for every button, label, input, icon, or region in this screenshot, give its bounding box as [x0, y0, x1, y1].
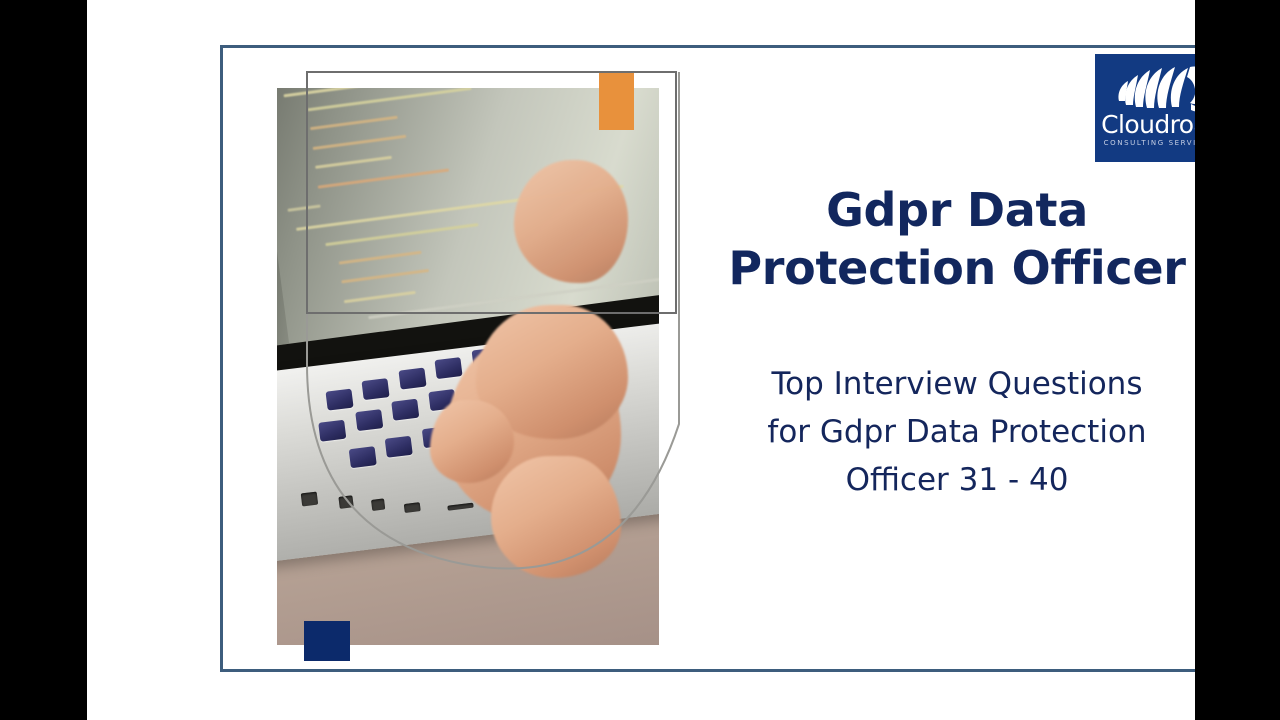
letterbox-left	[0, 0, 87, 720]
keyboard-key	[385, 436, 413, 458]
slide-canvas: Cloudroar CONSULTING SERVICES Gdpr Data …	[87, 0, 1195, 720]
laptop-port	[300, 491, 317, 506]
page-title-line-1: Gdpr Data	[707, 182, 1207, 240]
wrist	[491, 456, 621, 579]
keyboard-key	[391, 399, 419, 421]
laptop-port	[404, 501, 421, 512]
page-title-line-2: Protection Officer	[707, 240, 1207, 298]
page-subtitle: Top Interview Questions for Gdpr Data Pr…	[695, 360, 1219, 504]
keyboard-key	[362, 378, 390, 400]
laptop-card-slot	[447, 503, 473, 511]
letterbox-right	[1195, 0, 1280, 720]
page-subtitle-line-2: for Gdpr Data Protection	[695, 408, 1219, 456]
keyboard-key	[318, 419, 346, 441]
keyboard-key	[325, 388, 353, 410]
laptop-port	[371, 498, 385, 511]
page-subtitle-line-1: Top Interview Questions	[695, 360, 1219, 408]
keyboard-key	[398, 367, 426, 389]
navy-accent-block	[304, 621, 350, 661]
keyboard-key	[435, 357, 463, 379]
page-title: Gdpr Data Protection Officer	[707, 182, 1207, 297]
orange-accent-block	[599, 73, 634, 130]
page-subtitle-line-3: Officer 31 - 40	[695, 456, 1219, 504]
editor-gutter	[277, 88, 289, 348]
keyboard-key	[355, 409, 383, 431]
laptop-port	[338, 494, 353, 508]
keyboard-key	[349, 446, 377, 468]
video-stage: Cloudroar CONSULTING SERVICES Gdpr Data …	[0, 0, 1280, 720]
